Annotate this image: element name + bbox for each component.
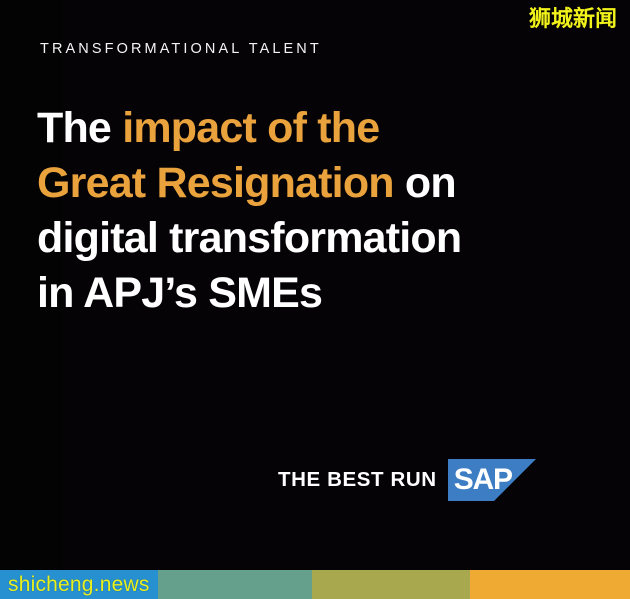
- sap-logo-text: SAP: [454, 459, 526, 501]
- promo-card: 狮城新闻 TRANSFORMATIONAL TALENT The impact …: [0, 0, 630, 599]
- bar-segment-brand: shicheng.news: [0, 570, 158, 599]
- bar-segment-olive: [312, 570, 470, 599]
- headline-line-4: in APJ’s SMEs: [37, 266, 597, 321]
- sap-brand-lockup: THE BEST RUN SAP: [278, 459, 536, 501]
- headline-segment: on: [394, 159, 456, 207]
- bar-segment-teal: [158, 570, 312, 599]
- headline-segment: The: [37, 104, 122, 152]
- bar-segment-orange: [470, 570, 630, 599]
- bottom-color-bar: shicheng.news: [0, 570, 630, 599]
- headline-segment: in APJ’s SMEs: [37, 269, 322, 317]
- headline-segment-accent: impact of the: [122, 104, 379, 152]
- site-brand-label: shicheng.news: [0, 574, 150, 595]
- eyebrow-label: TRANSFORMATIONAL TALENT: [40, 41, 322, 57]
- headline-line-3: digital transformation: [37, 211, 597, 266]
- headline-line-2: Great Resignation on: [37, 156, 597, 211]
- watermark-chinese: 狮城新闻: [529, 9, 617, 31]
- page-title: The impact of the Great Resignation on d…: [37, 101, 597, 321]
- headline-line-1: The impact of the: [37, 101, 597, 156]
- headline-segment-accent: Great Resignation: [37, 159, 394, 207]
- sap-logo: SAP: [448, 459, 536, 501]
- headline-segment: digital transformation: [37, 214, 461, 262]
- sap-tagline: THE BEST RUN: [278, 470, 437, 491]
